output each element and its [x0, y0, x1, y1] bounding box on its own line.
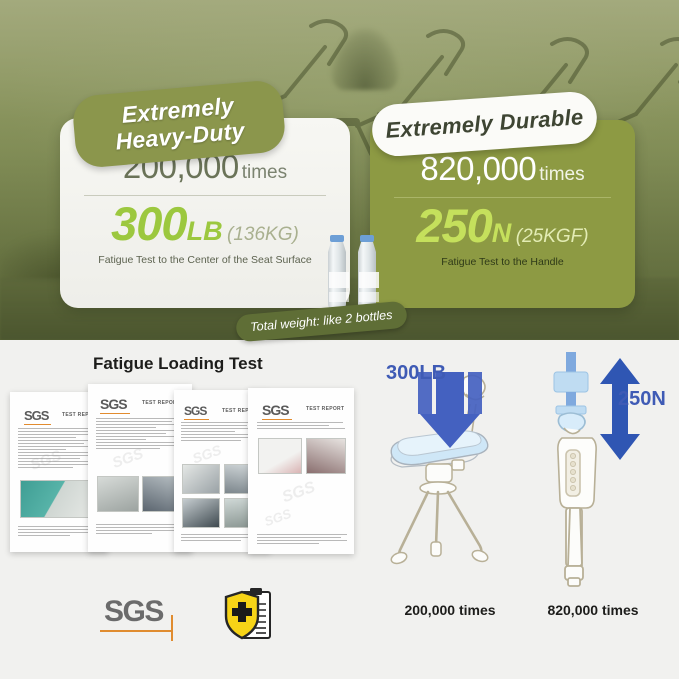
- right-load-unit: N: [492, 218, 512, 248]
- doc3-brand: SGS: [184, 404, 206, 418]
- infographic-root: 200,000times 300LB (136KG) Fatigue Test …: [0, 0, 679, 679]
- certificate-shield-icon: [222, 588, 274, 644]
- handle-test-caption: 820,000 times: [518, 602, 668, 618]
- right-card-caption: Fatigue Test to the Handle: [388, 256, 617, 268]
- right-cycles-unit: times: [539, 164, 584, 185]
- diagram-handle-pull-test: 250N: [536, 350, 656, 590]
- doc4-watermark: SGS: [280, 479, 318, 507]
- left-load-value: 300: [111, 197, 186, 250]
- sgs-report-thumb-4[interactable]: SGS TEST REPORT SGS SGS: [248, 388, 354, 554]
- fatigue-test-section: Fatigue Loading Test SGS TEST REPORT SGS…: [0, 340, 679, 679]
- doc1-brand: SGS: [24, 408, 48, 423]
- badge-heavy-duty-label: ExtremelyHeavy-Duty: [112, 93, 246, 156]
- sgs-logo: SGS: [104, 595, 163, 629]
- doc4-text-lines: [257, 422, 345, 431]
- right-cycles-value: 820,000: [420, 150, 536, 187]
- doc4-brand: SGS: [262, 402, 289, 418]
- left-load-unit: LB: [187, 216, 223, 246]
- badge-durable-label: Extremely Durable: [385, 105, 585, 143]
- doc3-photo-c: [182, 498, 220, 528]
- right-cycles-line: 820,000times: [388, 150, 617, 188]
- doc4-footer-lines: [257, 534, 347, 546]
- right-card-divider: [394, 197, 611, 198]
- cane-handle-icon: [536, 350, 656, 590]
- left-card-caption: Fatigue Test to the Center of the Seat S…: [78, 254, 332, 266]
- doc4-photo-right: [306, 438, 346, 474]
- seat-test-caption: 200,000 times: [380, 602, 520, 618]
- doc3-photo-a: [182, 464, 220, 494]
- doc2-brand: SGS: [100, 396, 127, 412]
- doc2-footer-lines: [96, 524, 184, 536]
- left-load-metric: (136KG): [227, 224, 299, 245]
- left-load-line: 300LB (136KG): [78, 200, 332, 247]
- handle-force-label: 250N: [618, 388, 666, 411]
- left-cycles-unit: times: [242, 162, 287, 183]
- page-title: Fatigue Loading Test: [93, 354, 263, 374]
- doc4-title: TEST REPORT: [306, 406, 344, 412]
- seat-force-label: 300LB: [386, 362, 446, 385]
- diagram-seat-load-test: 300LB: [378, 360, 518, 590]
- sgs-logo-tick: [171, 615, 173, 641]
- right-load-value: 250: [416, 199, 491, 252]
- sgs-logo-underline: [100, 630, 173, 632]
- water-bottles-icon: [322, 232, 388, 312]
- right-load-metric: (25KGF): [516, 226, 589, 247]
- sgs-logo-text: SGS: [104, 595, 163, 628]
- left-card-divider: [84, 195, 326, 196]
- doc3-watermark: SGS: [190, 441, 223, 466]
- doc4-watermark-2: SGS: [262, 506, 293, 529]
- right-load-line: 250N (25KGF): [388, 202, 617, 249]
- doc1-photo: [20, 480, 98, 518]
- doc4-photo-left: [258, 438, 302, 474]
- tripod-seat-icon: [378, 360, 518, 590]
- doc2-photo-left: [97, 476, 139, 512]
